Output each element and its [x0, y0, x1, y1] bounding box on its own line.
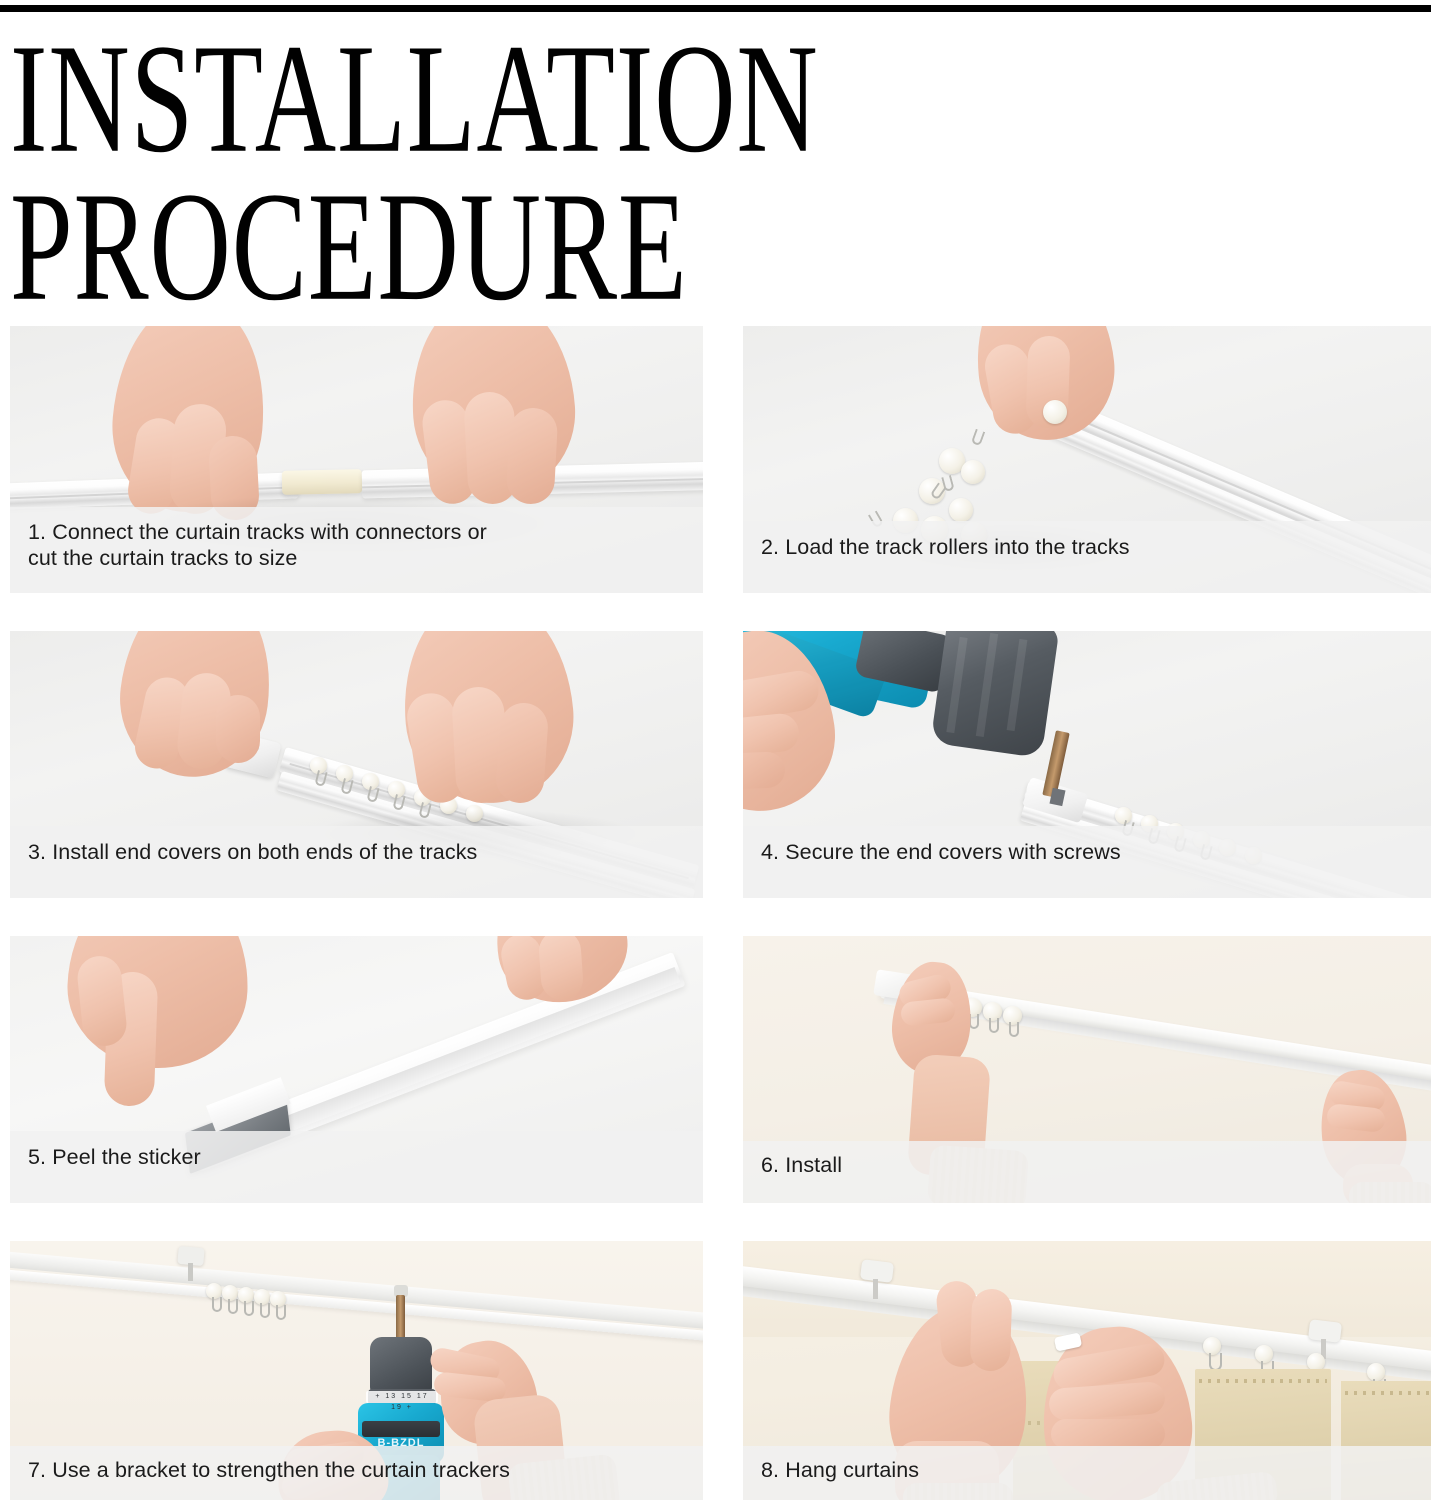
title-line-2: PROCEDURE — [10, 178, 1066, 315]
step-card-6: 6. Install — [743, 936, 1431, 1203]
title-line-1: INSTALLATION — [10, 30, 1066, 167]
step-card-3: 3. Install end covers on both ends of th… — [10, 631, 703, 898]
step-card-8: 8. Hang curtains — [743, 1241, 1431, 1500]
step-2-caption: 2. Load the track rollers into the track… — [743, 521, 1431, 593]
installation-procedure-page: INSTALLATION PROCEDURE — [0, 0, 1431, 1500]
step-8-caption: 8. Hang curtains — [743, 1446, 1431, 1500]
step-card-5: 5. Peel the sticker — [10, 936, 703, 1203]
step-7-caption: 7. Use a bracket to strengthen the curta… — [10, 1446, 703, 1500]
step-1-caption: 1. Connect the curtain tracks with conne… — [10, 507, 703, 593]
step-3-caption: 3. Install end covers on both ends of th… — [10, 826, 703, 898]
page-title: INSTALLATION PROCEDURE — [10, 30, 1210, 290]
step-card-1: 1. Connect the curtain tracks with conne… — [10, 326, 703, 593]
step-card-4: 4. Secure the end covers with screws — [743, 631, 1431, 898]
step-card-2: 2. Load the track rollers into the track… — [743, 326, 1431, 593]
step-card-7: + 13 15 17 19 + B-BZDL 7. Use a bracket … — [10, 1241, 703, 1500]
step-4-caption: 4. Secure the end covers with screws — [743, 826, 1431, 898]
step-5-caption: 5. Peel the sticker — [10, 1131, 703, 1203]
step-6-caption: 6. Install — [743, 1141, 1431, 1203]
steps-grid: 1. Connect the curtain tracks with conne… — [10, 326, 1424, 1500]
